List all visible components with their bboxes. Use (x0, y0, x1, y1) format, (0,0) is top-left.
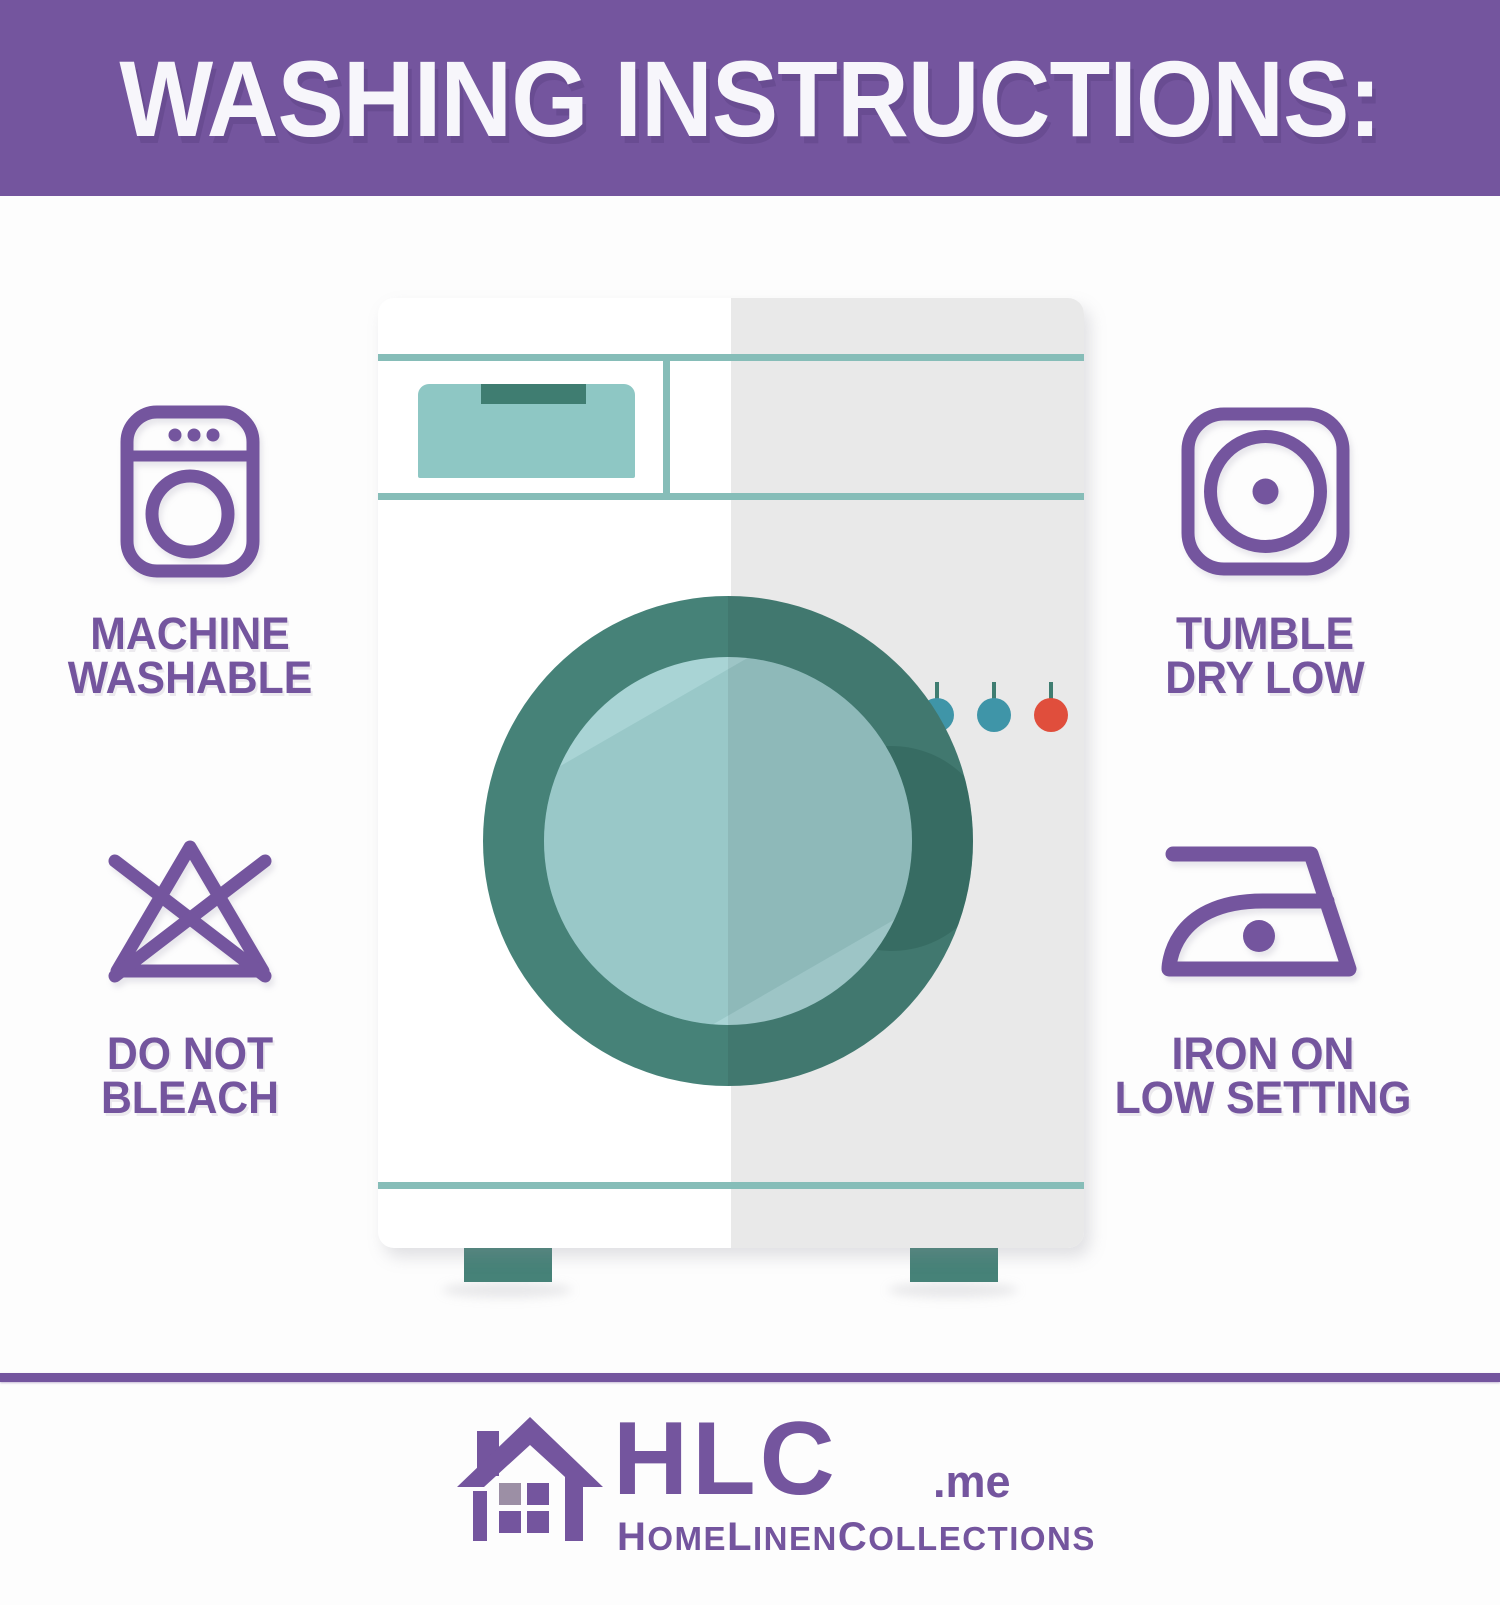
power-knob[interactable] (1034, 698, 1068, 732)
care-symbol-iron-on-low-setting[interactable]: IRON ON LOW SETTING (1098, 796, 1428, 1120)
page-title: WASHING INSTRUCTIONS: (60, 0, 1440, 196)
washing-machine-icon (25, 376, 355, 606)
washing-machine-illustration (378, 298, 1084, 1298)
door-ring-shading (728, 596, 973, 1086)
care-symbol-label: MACHINE WASHABLE (33, 612, 347, 700)
iron-icon (1098, 796, 1428, 1026)
footer-divider (0, 1373, 1500, 1382)
control-panel-top-line (378, 354, 1084, 361)
temperature-dial-icon[interactable] (1083, 690, 1084, 764)
tagline-part-0: H (617, 1515, 647, 1559)
machine-body (378, 298, 1084, 1248)
do-not-bleach-triangle-icon (25, 796, 355, 1026)
tumble-dry-icon (1100, 376, 1430, 606)
care-symbol-label: TUMBLE DRY LOW (1108, 612, 1422, 700)
logo-tld: .me (933, 1459, 1011, 1504)
logo-tagline: HOMELINENCOLLECTIONS (617, 1515, 1096, 1560)
machine-plinth-line (378, 1182, 1084, 1189)
infographic-page: WASHING INSTRUCTIONS: MACHINE WASHABLE D… (0, 0, 1500, 1605)
washer-door[interactable] (483, 596, 973, 1086)
care-symbol-machine-washable[interactable]: MACHINE WASHABLE (25, 376, 355, 700)
detergent-drawer[interactable] (418, 384, 635, 478)
foot-shadow-left (442, 1282, 572, 1298)
tagline-part-5: OLLECTIONS (868, 1520, 1096, 1557)
care-symbol-label: IRON ON LOW SETTING (1106, 1032, 1420, 1120)
detergent-drawer-handle (481, 384, 586, 404)
house-icon (455, 1409, 605, 1549)
logo-wordmark: HLC (613, 1407, 839, 1511)
foot-left (464, 1246, 552, 1282)
control-panel-divider (663, 354, 670, 500)
tagline-part-2: L (727, 1515, 753, 1559)
hlc-logo[interactable]: HLC .me HOMELINENCOLLECTIONS (455, 1403, 1045, 1553)
care-symbol-do-not-bleach[interactable]: DO NOT BLEACH (25, 796, 355, 1120)
tagline-part-1: OME (647, 1520, 727, 1557)
control-panel-bottom-line (378, 493, 1084, 500)
care-symbol-tumble-dry-low[interactable]: TUMBLE DRY LOW (1100, 376, 1430, 700)
foot-right (910, 1246, 998, 1282)
tagline-part-3: INEN (753, 1520, 838, 1557)
header-banner: WASHING INSTRUCTIONS: (0, 0, 1500, 196)
foot-shadow-right (888, 1282, 1018, 1298)
tagline-part-4: C (838, 1515, 868, 1559)
care-symbol-label: DO NOT BLEACH (33, 1032, 347, 1120)
program-knob-2[interactable] (977, 698, 1011, 732)
